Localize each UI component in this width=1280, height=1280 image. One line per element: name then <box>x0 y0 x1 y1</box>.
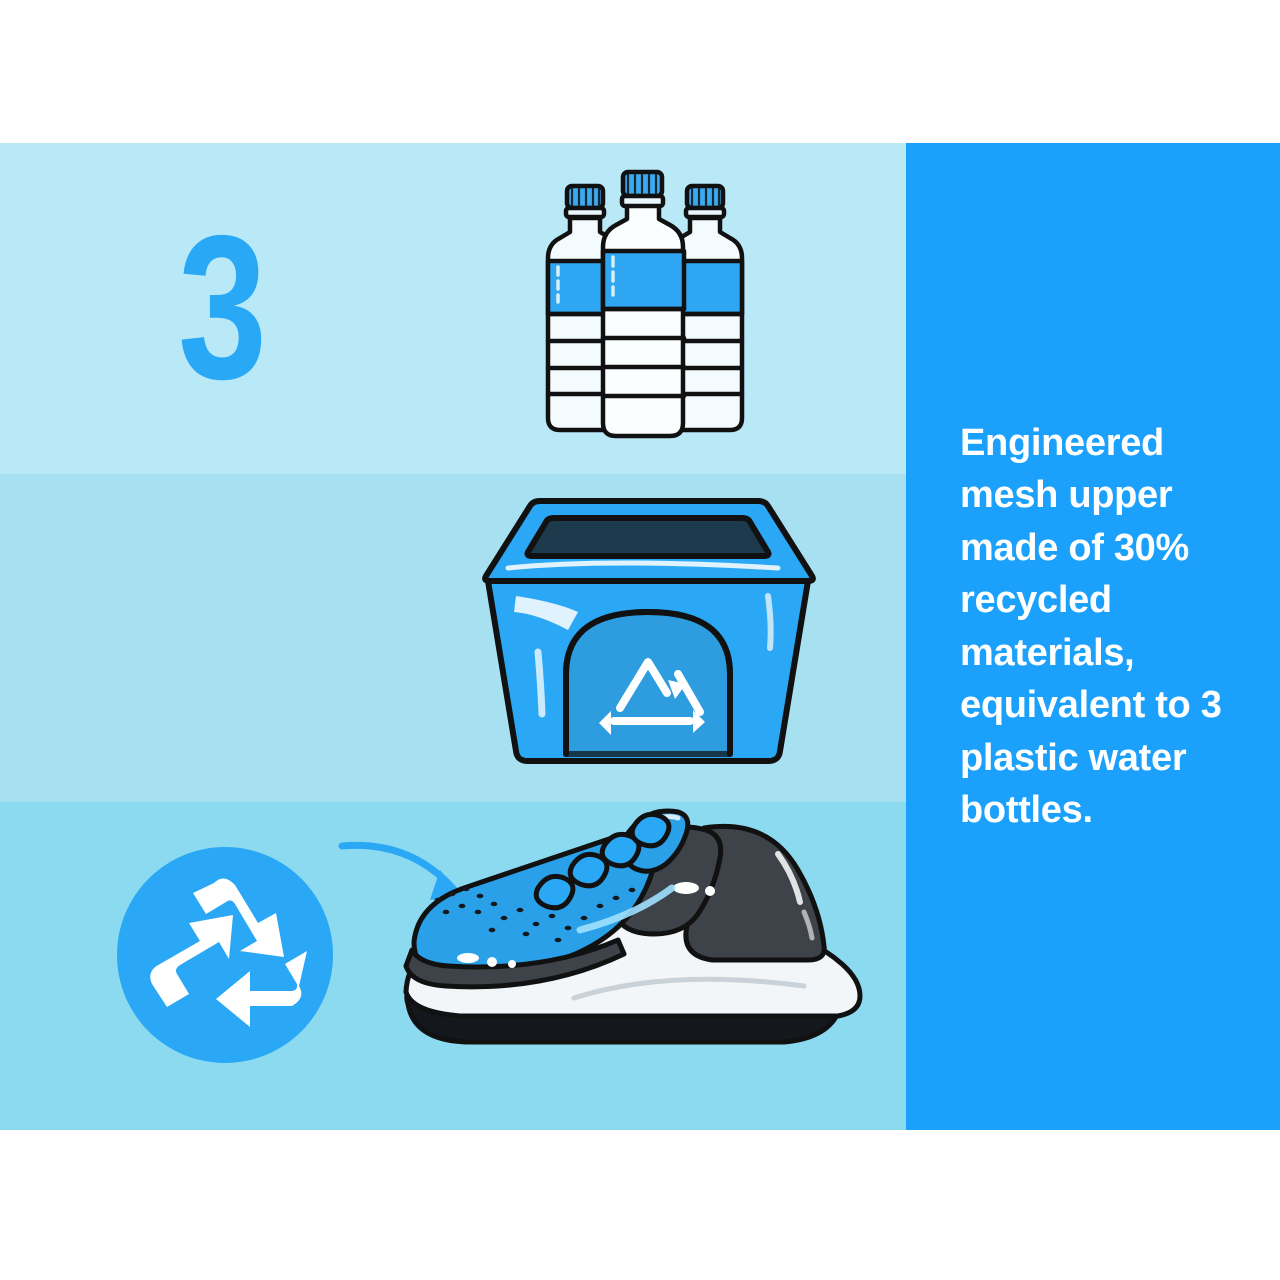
band-shoe <box>0 802 906 1130</box>
panel-copy-text: Engineered mesh upper made of 30% recycl… <box>960 417 1270 837</box>
recycle-symbol-icon <box>110 840 340 1070</box>
running-shoe-illustration <box>386 802 866 1072</box>
recycled-materials-infographic: 3 <box>0 143 1280 1130</box>
water-bottle-center <box>603 172 684 436</box>
band-bottles: 3 <box>0 143 906 474</box>
stat-number-bottles: 3 <box>178 205 265 410</box>
copy-panel: Engineered mesh upper made of 30% recycl… <box>906 143 1280 1130</box>
band-recycling-bin: 30% <box>0 474 906 802</box>
infographic-left-column: 3 <box>0 143 906 1130</box>
water-bottles-illustration <box>500 163 790 453</box>
recycling-bin-illustration <box>468 484 828 784</box>
